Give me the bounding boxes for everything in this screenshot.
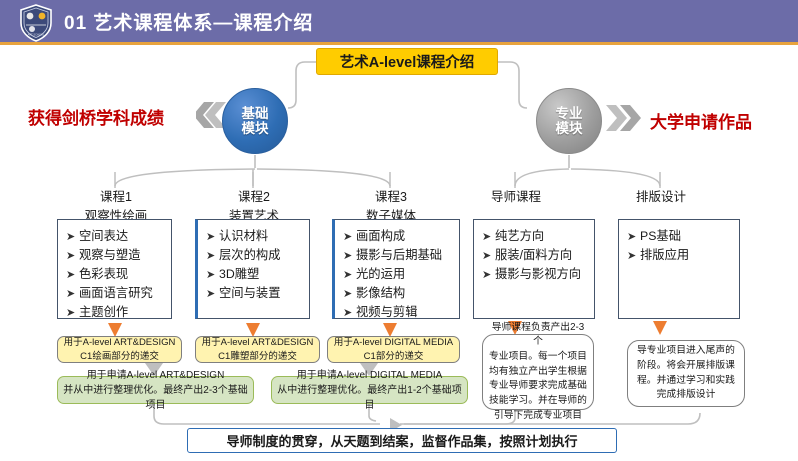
yellow-note-2[interactable]: 用于A-level ART&DESIGN C1雕塑部分的递交 bbox=[195, 336, 320, 363]
course-intro-pill[interactable]: 艺术A-level课程介绍 bbox=[316, 48, 498, 75]
slide-canvas: ART SCHOOL 01 艺术课程体系—课程介绍 艺术A-level课程介绍 … bbox=[0, 0, 798, 461]
bullet-arrow-icon: ➤ bbox=[206, 229, 219, 246]
white-note-mentor-line3: 均有独立产出学生根据 bbox=[489, 365, 587, 380]
bullet-arrow-icon: ➤ bbox=[343, 286, 356, 303]
yellow-note-3-line1: 用于A-level DIGITAL MEDIA bbox=[334, 336, 453, 350]
course-item-label: PS基础 bbox=[640, 227, 681, 246]
green-note-1-line2: 并从中进行整理优化。最终产出2-3个基础项目 bbox=[62, 383, 249, 413]
bullet-arrow-icon: ➤ bbox=[206, 267, 219, 284]
course-item-label: 摄影与影视方向 bbox=[495, 265, 581, 284]
list-item: ➤画面构成 bbox=[343, 227, 455, 246]
course-item-label: 视频与剪辑 bbox=[356, 303, 418, 322]
course-box-1[interactable]: ➤空间表达 ➤观察与塑造 ➤色彩表现 ➤画面语言研究 ➤主题创作 bbox=[57, 219, 172, 319]
module-basic[interactable]: 基础 模块 bbox=[222, 88, 288, 154]
course-item-label: 画面语言研究 bbox=[79, 284, 153, 303]
list-item: ➤观察与塑造 bbox=[66, 246, 167, 265]
double-chevron-right-icon bbox=[604, 103, 646, 138]
white-note-layout-line4: 完成排版设计 bbox=[657, 388, 716, 403]
bullet-arrow-icon: ➤ bbox=[627, 229, 640, 246]
bullet-arrow-icon: ➤ bbox=[482, 248, 495, 265]
course-list-3: ➤画面构成 ➤摄影与后期基础 ➤光的运用 ➤影像结构 ➤视频与剪辑 bbox=[343, 227, 455, 322]
list-item: ➤摄影与后期基础 bbox=[343, 246, 455, 265]
bullet-arrow-icon: ➤ bbox=[66, 267, 79, 284]
course-item-label: 画面构成 bbox=[356, 227, 405, 246]
column-heading-4: 导师课程 bbox=[462, 188, 570, 207]
module-pro-line1: 专业 bbox=[556, 106, 583, 121]
column-heading-2-line1: 课程2 bbox=[200, 188, 308, 207]
bullet-arrow-icon: ➤ bbox=[343, 267, 356, 284]
white-note-mentor-line1: 导师课程负责产出2-3个 bbox=[488, 321, 588, 350]
yellow-note-1-line2: C1绘画部分的递交 bbox=[80, 350, 159, 364]
green-note-1[interactable]: 用于申请A-level ART&DESIGN 并从中进行整理优化。最终产出2-3… bbox=[57, 376, 254, 404]
column-heading-4-line1: 导师课程 bbox=[462, 188, 570, 207]
bullet-arrow-icon: ➤ bbox=[66, 286, 79, 303]
white-note-mentor-line2: 专业项目。每一个项目 bbox=[489, 350, 587, 365]
course-item-label: 观察与塑造 bbox=[79, 246, 141, 265]
course-item-label: 色彩表现 bbox=[79, 265, 128, 284]
list-item: ➤影像结构 bbox=[343, 284, 455, 303]
course-item-label: 摄影与后期基础 bbox=[356, 246, 442, 265]
green-note-2-line1: 用于申请A-level DIGITAL MEDIA bbox=[297, 368, 443, 383]
column-heading-5-line1: 排版设计 bbox=[607, 188, 715, 207]
green-note-2[interactable]: 用于申请A-level DIGITAL MEDIA 从中进行整理优化。最终产出1… bbox=[271, 376, 468, 404]
module-pro-line2: 模块 bbox=[556, 121, 583, 136]
course-item-label: 层次的构成 bbox=[219, 246, 281, 265]
list-item: ➤排版应用 bbox=[627, 246, 735, 265]
course-item-label: 空间表达 bbox=[79, 227, 128, 246]
course-list-4: ➤纯艺方向 ➤服装/面料方向 ➤摄影与影视方向 bbox=[482, 227, 590, 284]
yellow-note-3-line2: C1部分的递交 bbox=[364, 350, 424, 364]
header-accent-stripe bbox=[0, 42, 798, 45]
course-item-label: 纯艺方向 bbox=[495, 227, 544, 246]
yellow-note-2-line2: C1雕塑部分的递交 bbox=[218, 350, 297, 364]
bullet-arrow-icon: ➤ bbox=[206, 248, 219, 265]
list-item: ➤视频与剪辑 bbox=[343, 303, 455, 322]
list-item: ➤画面语言研究 bbox=[66, 284, 167, 303]
white-note-layout-line1: 导专业项目进入尾声的 bbox=[637, 344, 735, 359]
outcome-label-right: 大学申请作品 bbox=[650, 108, 752, 133]
course-box-3[interactable]: ➤画面构成 ➤摄影与后期基础 ➤光的运用 ➤影像结构 ➤视频与剪辑 bbox=[332, 219, 460, 319]
bullet-arrow-icon: ➤ bbox=[66, 248, 79, 265]
list-item: ➤认识材料 bbox=[206, 227, 305, 246]
bullet-arrow-icon: ➤ bbox=[343, 305, 356, 322]
outcome-label-left: 获得剑桥学科成绩 bbox=[28, 104, 164, 129]
bullet-arrow-icon: ➤ bbox=[66, 229, 79, 246]
green-note-2-line2: 从中进行整理优化。最终产出1-2个基础项目 bbox=[276, 383, 463, 413]
list-item: ➤层次的构成 bbox=[206, 246, 305, 265]
course-item-label: 主题创作 bbox=[79, 303, 128, 322]
list-item: ➤主题创作 bbox=[66, 303, 167, 322]
course-item-label: 影像结构 bbox=[356, 284, 405, 303]
white-note-layout-line3: 程。并通过学习和实践 bbox=[637, 374, 735, 389]
course-item-label: 3D雕塑 bbox=[219, 265, 259, 284]
column-heading-1-line1: 课程1 bbox=[62, 188, 170, 207]
column-heading-3-line1: 课程3 bbox=[337, 188, 445, 207]
course-list-5: ➤PS基础 ➤排版应用 bbox=[627, 227, 735, 265]
bullet-arrow-icon: ➤ bbox=[343, 229, 356, 246]
course-list-1: ➤空间表达 ➤观察与塑造 ➤色彩表现 ➤画面语言研究 ➤主题创作 bbox=[66, 227, 167, 322]
module-basic-line2: 模块 bbox=[242, 121, 269, 136]
bullet-arrow-icon: ➤ bbox=[482, 229, 495, 246]
list-item: ➤PS基础 bbox=[627, 227, 735, 246]
column-heading-5: 排版设计 bbox=[607, 188, 715, 207]
list-item: ➤光的运用 bbox=[343, 265, 455, 284]
yellow-note-3[interactable]: 用于A-level DIGITAL MEDIA C1部分的递交 bbox=[327, 336, 460, 363]
white-note-mentor-line5: 技能学习。并在导师的 bbox=[489, 394, 587, 409]
course-box-2[interactable]: ➤认识材料 ➤层次的构成 ➤3D雕塑 ➤空间与装置 bbox=[195, 219, 310, 319]
module-professional[interactable]: 专业 模块 bbox=[536, 88, 602, 154]
course-item-label: 空间与装置 bbox=[219, 284, 281, 303]
svg-text:ART SCHOOL: ART SCHOOL bbox=[28, 33, 45, 37]
course-item-label: 认识材料 bbox=[219, 227, 268, 246]
white-note-layout[interactable]: 导专业项目进入尾声的 阶段。将会开展排版课 程。并通过学习和实践 完成排版设计 bbox=[627, 340, 745, 407]
page-title: 01 艺术课程体系—课程介绍 bbox=[64, 8, 313, 35]
course-item-label: 服装/面料方向 bbox=[495, 246, 572, 265]
bullet-arrow-icon: ➤ bbox=[66, 305, 79, 322]
bullet-arrow-icon: ➤ bbox=[343, 248, 356, 265]
bullet-arrow-icon: ➤ bbox=[206, 286, 219, 303]
course-box-4[interactable]: ➤纯艺方向 ➤服装/面料方向 ➤摄影与影视方向 bbox=[473, 219, 595, 319]
bottom-summary-bar[interactable]: 导师制度的贯穿，从天题到结案，监督作品集，按照计划执行 bbox=[187, 428, 617, 453]
white-note-mentor[interactable]: 导师课程负责产出2-3个 专业项目。每一个项目 均有独立产出学生根据 专业导师要… bbox=[482, 334, 594, 410]
course-box-5[interactable]: ➤PS基础 ➤排版应用 bbox=[618, 219, 740, 319]
course-item-label: 排版应用 bbox=[640, 246, 689, 265]
list-item: ➤摄影与影视方向 bbox=[482, 265, 590, 284]
list-item: ➤色彩表现 bbox=[66, 265, 167, 284]
yellow-note-2-line1: 用于A-level ART&DESIGN bbox=[202, 336, 314, 350]
green-note-1-line1: 用于申请A-level ART&DESIGN bbox=[87, 368, 225, 383]
white-note-mentor-line6: 引导下完成专业项目 bbox=[494, 409, 582, 424]
list-item: ➤空间表达 bbox=[66, 227, 167, 246]
list-item: ➤纯艺方向 bbox=[482, 227, 590, 246]
course-list-2: ➤认识材料 ➤层次的构成 ➤3D雕塑 ➤空间与装置 bbox=[206, 227, 305, 303]
yellow-note-1[interactable]: 用于A-level ART&DESIGN C1绘画部分的递交 bbox=[57, 336, 182, 363]
bullet-arrow-icon: ➤ bbox=[627, 248, 640, 265]
course-item-label: 光的运用 bbox=[356, 265, 405, 284]
white-note-layout-line2: 阶段。将会开展排版课 bbox=[637, 359, 735, 374]
yellow-note-1-line1: 用于A-level ART&DESIGN bbox=[64, 336, 176, 350]
module-basic-line1: 基础 bbox=[242, 106, 269, 121]
list-item: ➤服装/面料方向 bbox=[482, 246, 590, 265]
white-note-mentor-line4: 专业导师要求完成基础 bbox=[489, 379, 587, 394]
bullet-arrow-icon: ➤ bbox=[482, 267, 495, 284]
list-item: ➤空间与装置 bbox=[206, 284, 305, 303]
school-crest-icon: ART SCHOOL bbox=[16, 3, 56, 43]
list-item: ➤3D雕塑 bbox=[206, 265, 305, 284]
